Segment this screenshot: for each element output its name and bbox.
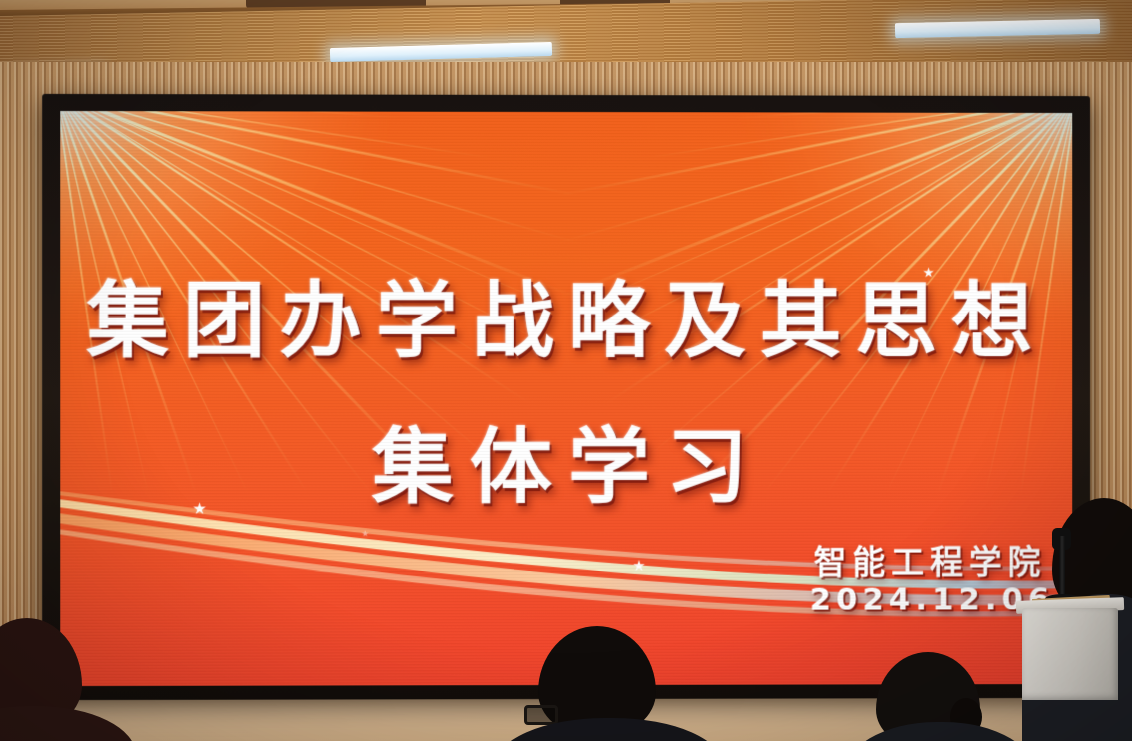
attendee-left-edge [0,618,112,741]
podium-lectern [1022,608,1118,700]
attendee-back-right [862,652,1012,741]
slide-title-block: 集团办学战略及其思想 集体学习 [60,111,1072,113]
slide-title-line-2: 集体学习 [60,400,1072,519]
slide-organization: 智能工程学院 [814,536,1047,584]
podium-microphone-stem [1059,536,1065,602]
attendee-center-glasses-icon [524,705,558,725]
decor-star-faint [362,530,369,537]
led-screen-display: 集团办学战略及其思想 集体学习 智能工程学院 2024.12.06 [60,111,1072,686]
attendee-back-right-shoulders [842,722,1038,741]
led-screen-bezel: 集团办学战略及其思想 集体学习 智能工程学院 2024.12.06 [42,94,1090,700]
conference-room: 集团办学战略及其思想 集体学习 智能工程学院 2024.12.06 [0,0,1132,741]
attendee-center [508,626,708,741]
slide-title-line-1: 集团办学战略及其思想 [60,253,1072,373]
decor-star-center [633,560,645,572]
